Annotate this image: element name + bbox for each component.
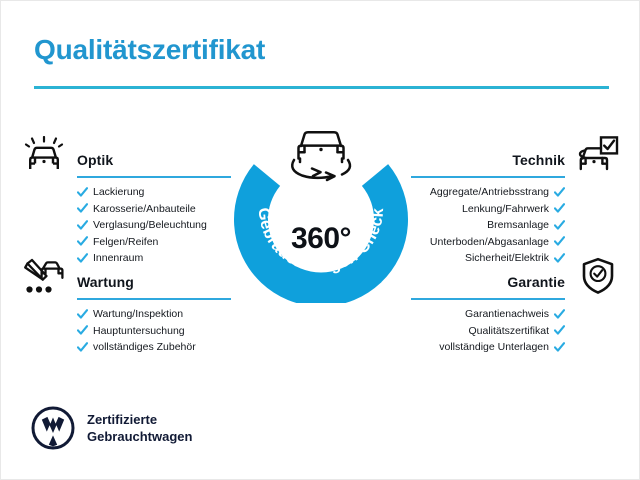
section-optik-rule <box>77 176 231 178</box>
section-optik-title: Optik <box>77 152 113 168</box>
list-item-label: Hauptuntersuchung <box>93 323 185 340</box>
list-item: Felgen/Reifen <box>77 234 231 251</box>
section-wartung-header: Wartung <box>21 256 231 300</box>
list-item: Bremsanlage <box>411 217 565 234</box>
check-icon <box>77 187 88 198</box>
check-icon <box>554 342 565 353</box>
section-garantie-title: Garantie <box>507 274 565 290</box>
check-icon <box>554 187 565 198</box>
footer-brand: Zertifizierte Gebrauchtwagen <box>31 406 192 450</box>
section-technik-rule <box>411 176 565 178</box>
section-wartung-rule <box>77 298 231 300</box>
shield-check-icon <box>575 256 621 296</box>
footer-line-1: Zertifizierte <box>87 412 157 427</box>
section-technik: Technik Aggregate/Antriebsstrang Lenkung… <box>411 134 621 267</box>
car-checkbox-icon <box>575 134 621 174</box>
section-optik: Optik Lackierung Karosserie/Anbauteile V… <box>21 134 231 267</box>
check-icon <box>554 309 565 320</box>
list-item-label: vollständiges Zubehör <box>93 339 196 356</box>
list-item: Wartung/Inspektion <box>77 306 231 323</box>
section-wartung-title: Wartung <box>77 274 134 290</box>
list-item-label: Lenkung/Fahrwerk <box>462 201 549 218</box>
check-icon <box>554 236 565 247</box>
list-item: Qualitätszertifikat <box>411 323 565 340</box>
section-garantie: Garantie Garantienachweis Qualitätszerti… <box>411 256 621 356</box>
check-icon <box>554 325 565 336</box>
check-icon <box>77 342 88 353</box>
list-item-label: Bremsanlage <box>487 217 549 234</box>
list-item: Garantienachweis <box>411 306 565 323</box>
section-technik-list: Aggregate/Antriebsstrang Lenkung/Fahrwer… <box>411 184 621 267</box>
check-icon <box>77 203 88 214</box>
section-garantie-list: Garantienachweis Qualitätszertifikat vol… <box>411 306 621 356</box>
header-divider <box>34 86 609 89</box>
section-optik-list: Lackierung Karosserie/Anbauteile Verglas… <box>21 184 231 267</box>
certificate-page: Qualitätszertifikat <box>0 0 640 480</box>
car-rotate-icon <box>278 124 364 182</box>
list-item-label: vollständige Unterlagen <box>439 339 549 356</box>
badge-center-label: 360° <box>229 222 413 256</box>
list-item: Karosserie/Anbauteile <box>77 201 231 218</box>
list-item-label: Verglasung/Beleuchtung <box>93 217 207 234</box>
list-item: vollständige Unterlagen <box>411 339 565 356</box>
list-item: vollständiges Zubehör <box>77 339 231 356</box>
list-item-label: Karosserie/Anbauteile <box>93 201 196 218</box>
list-item: Verglasung/Beleuchtung <box>77 217 231 234</box>
list-item: Lenkung/Fahrwerk <box>411 201 565 218</box>
check-icon <box>77 220 88 231</box>
section-technik-header: Technik <box>411 134 621 178</box>
check-icon <box>77 236 88 247</box>
list-item: Unterboden/Abgasanlage <box>411 234 565 251</box>
section-technik-title: Technik <box>512 152 565 168</box>
check-icon <box>554 203 565 214</box>
car-wash-icon <box>21 134 67 174</box>
section-garantie-rule <box>411 298 565 300</box>
list-item-label: Unterboden/Abgasanlage <box>430 234 549 251</box>
list-item: Lackierung <box>77 184 231 201</box>
footer-line-2: Gebrauchtwagen <box>87 429 192 444</box>
check-icon <box>554 220 565 231</box>
section-garantie-header: Garantie <box>411 256 621 300</box>
list-item-label: Lackierung <box>93 184 144 201</box>
service-pen-car-icon <box>21 256 67 296</box>
section-wartung: Wartung Wartung/Inspektion Hauptuntersuc… <box>21 256 231 356</box>
list-item: Aggregate/Antriebsstrang <box>411 184 565 201</box>
list-item-label: Wartung/Inspektion <box>93 306 183 323</box>
list-item-label: Garantienachweis <box>465 306 549 323</box>
list-item-label: Aggregate/Antriebsstrang <box>430 184 549 201</box>
list-item: Hauptuntersuchung <box>77 323 231 340</box>
check-icon <box>77 309 88 320</box>
list-item-label: Qualitätszertifikat <box>468 323 549 340</box>
page-title: Qualitätszertifikat <box>34 34 265 66</box>
section-wartung-list: Wartung/Inspektion Hauptuntersuchung vol… <box>21 306 231 356</box>
section-optik-header: Optik <box>21 134 231 178</box>
volkswagen-logo <box>31 406 75 450</box>
list-item-label: Felgen/Reifen <box>93 234 158 251</box>
check-icon <box>77 325 88 336</box>
footer-brand-text: Zertifizierte Gebrauchtwagen <box>87 411 192 445</box>
